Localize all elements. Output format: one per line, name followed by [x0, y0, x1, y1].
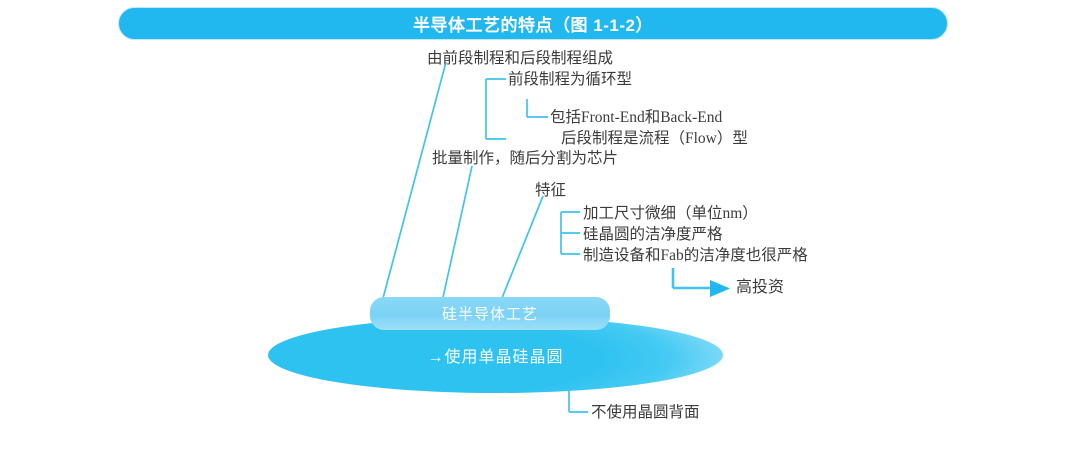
- node-features-label: 特征: [535, 180, 566, 201]
- node-high-investment: 高投资: [736, 277, 784, 298]
- rounded-box-label: 硅半导体工艺: [442, 303, 538, 324]
- node-feature-1: 加工尺寸微细（单位nm）: [583, 203, 758, 224]
- node-includes-front-back: 包括Front-End和Back-End: [550, 107, 722, 128]
- page-title: 半导体工艺的特点（图 1-1-2）: [413, 11, 653, 36]
- ellipse-label: →使用单晶硅晶圆: [268, 343, 723, 367]
- node-feature-2: 硅晶圆的洁净度严格: [583, 224, 723, 245]
- node-feature-3: 制造设备和Fab的洁净度也很严格: [583, 245, 808, 266]
- node-batch-then-split: 批量制作，随后分割为芯片: [432, 148, 618, 169]
- rounded-box-shape: 硅半导体工艺: [370, 297, 610, 330]
- arrow-head-high-investment: [710, 280, 730, 297]
- diagram-canvas: 半导体工艺的特点（图 1-1-2） 由前段制程和后段制程组成 前段制程为循环型 …: [0, 0, 1066, 461]
- node-back-end-flow: 后段制程是流程（Flow）型: [561, 128, 748, 149]
- node-composition: 由前段制程和后段制程组成: [427, 48, 613, 69]
- node-front-end-cycle: 前段制程为循环型: [508, 69, 632, 90]
- title-banner: 半导体工艺的特点（图 1-1-2）: [118, 7, 948, 40]
- node-no-wafer-backside: 不使用晶圆背面: [591, 402, 700, 423]
